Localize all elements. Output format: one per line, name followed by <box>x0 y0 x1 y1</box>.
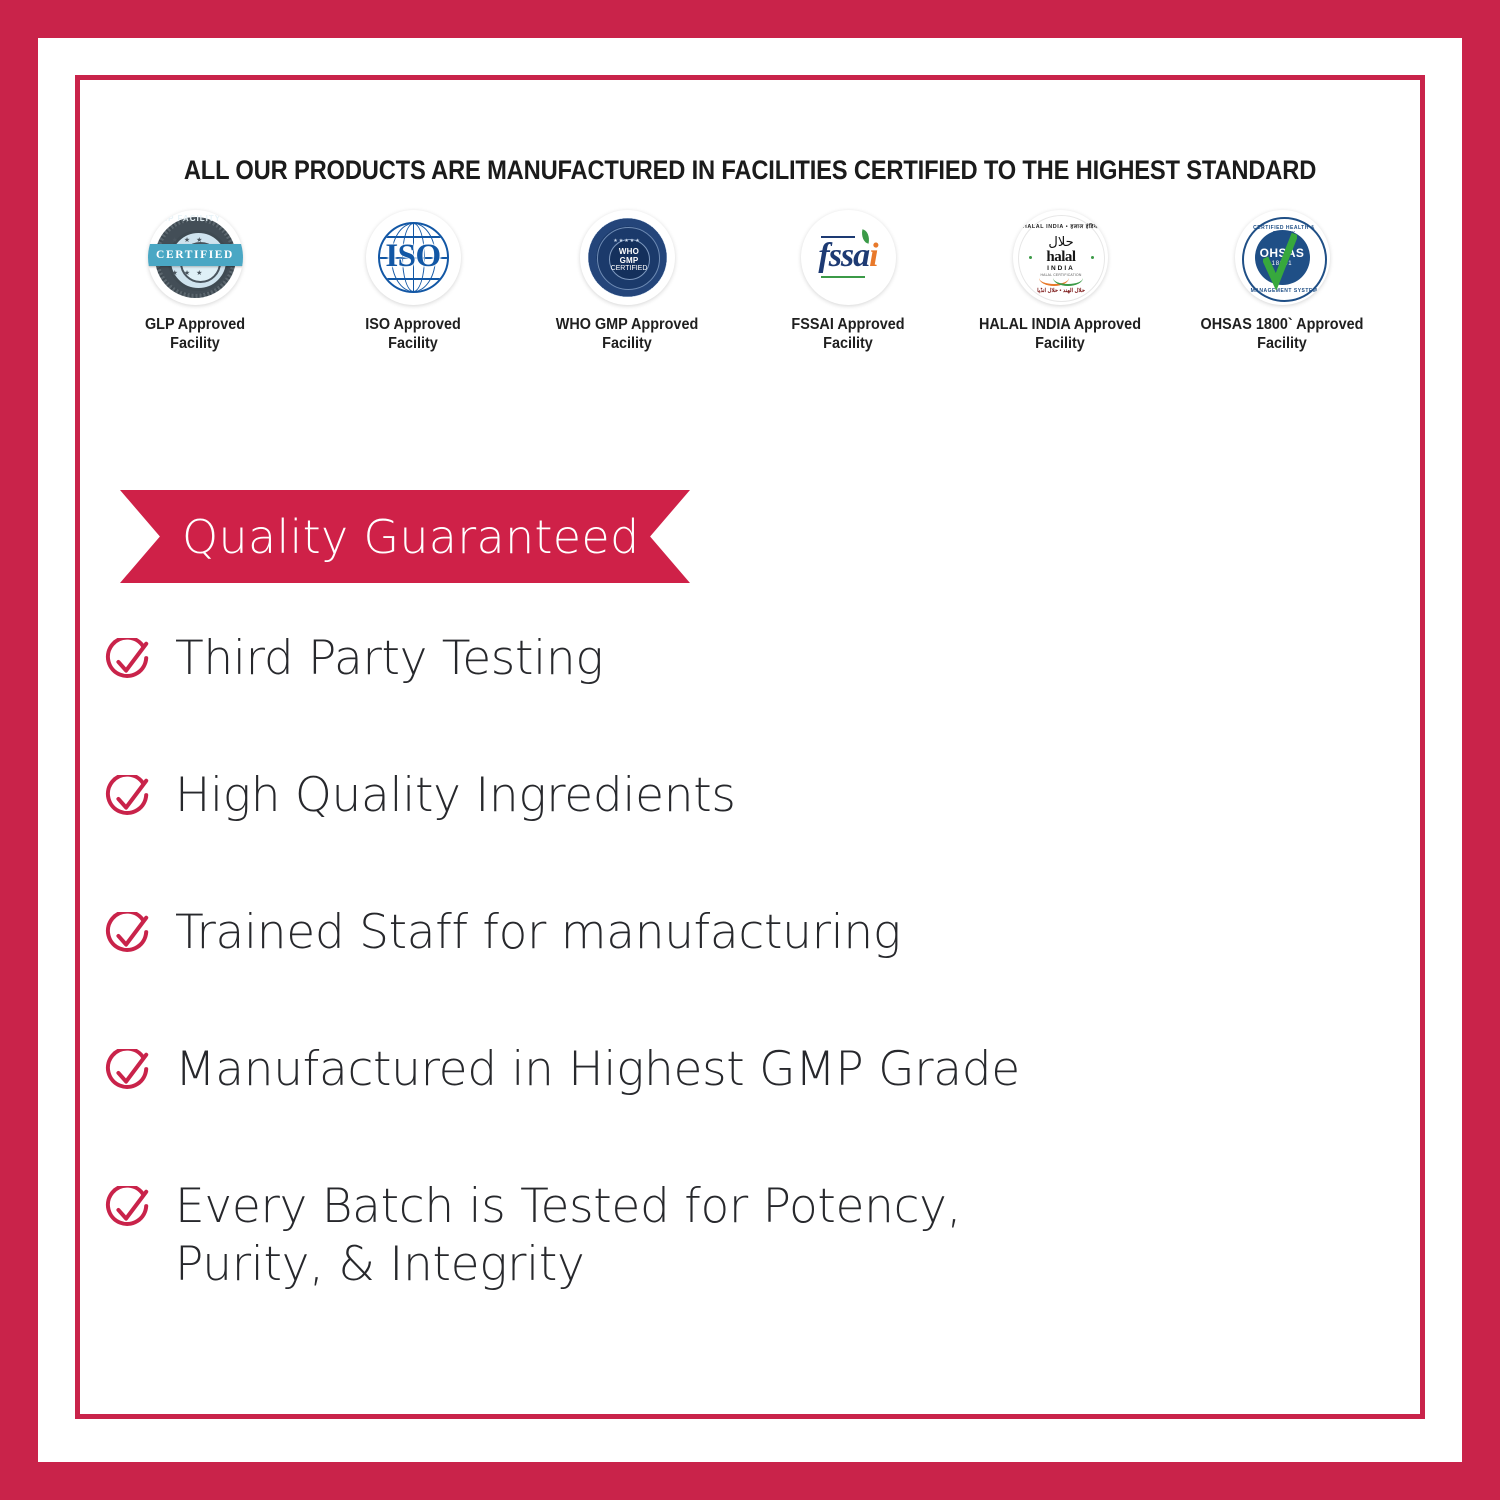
glp-stars-top: ★ ★ ★ <box>148 236 229 244</box>
ribbon-label: Quality Guaranteed <box>182 510 639 564</box>
glp-certified-seal-icon: GLP FACILITY ★ ★ ★ ★ ★ ★ CERTIFIED <box>148 210 243 305</box>
fssai-wordmark: fssa <box>818 237 869 274</box>
list-item: Manufactured in Highest GMP Grade <box>105 1041 1020 1099</box>
iso-globe-icon: ISO <box>366 210 461 305</box>
ohsas-seal-icon: OHSAS 18001 CERTIFIED HEALTH & SAFETY MA… <box>1235 210 1330 305</box>
list-item-label: Trained Staff for manufacturing <box>175 904 901 962</box>
list-item: Trained Staff for manufacturing <box>105 904 901 962</box>
list-item-label: Every Batch is Tested for Potency, Purit… <box>175 1178 961 1294</box>
ohsas-green-check-icon <box>1263 232 1297 290</box>
list-item-label: High Quality Ingredients <box>175 767 736 825</box>
list-item-label: Manufactured in Highest GMP Grade <box>175 1041 1020 1099</box>
certification-caption: WHO GMP Approved Facility <box>534 315 720 353</box>
crimson-outer-frame: ALL OUR PRODUCTS ARE MANUFACTURED IN FAC… <box>0 0 1500 1500</box>
circle-check-icon <box>105 1186 151 1232</box>
certification-item-fssai: fssai FSSAI Approved Facility <box>748 210 948 353</box>
quality-guaranteed-ribbon: Quality Guaranteed <box>120 490 690 583</box>
gmp-stars: ★★★★★ <box>588 238 667 244</box>
halal-arc-top: HALAL INDIA • हलाल इंडिया <box>1019 222 1104 230</box>
list-item-label: Third Party Testing <box>175 630 603 688</box>
certification-item-iso: ISO ISO Approved Facility <box>313 210 513 353</box>
glp-certified-band: CERTIFIED <box>148 244 243 266</box>
certification-item-who-gmp: WHO GMP CERTIFIED ★★★★★ WHO GMP Approved… <box>527 210 727 353</box>
certification-item-halal-india: HALAL INDIA • हलाल इंडिया حلال halal IND… <box>960 210 1160 353</box>
halal-arabic: حلال <box>1019 236 1104 249</box>
certification-caption: GLP Approved Facility <box>102 315 288 353</box>
list-item: Every Batch is Tested for Potency, Purit… <box>105 1178 961 1294</box>
glp-stars-bottom: ★ ★ ★ <box>148 269 229 277</box>
certification-item-glp: GLP FACILITY ★ ★ ★ ★ ★ ★ CERTIFIED GLP A… <box>95 210 295 353</box>
certification-caption: FSSAI Approved Facility <box>755 315 941 353</box>
glp-arc-text: GLP FACILITY <box>148 214 229 223</box>
certification-caption: HALAL INDIA Approved Facility <box>967 315 1153 353</box>
fssai-wordmark-accent: i <box>869 237 877 274</box>
circle-check-icon <box>105 1049 151 1095</box>
circle-check-icon <box>105 912 151 958</box>
circle-check-icon <box>105 638 151 684</box>
certification-caption: ISO Approved Facility <box>320 315 506 353</box>
page-title: ALL OUR PRODUCTS ARE MANUFACTURED IN FAC… <box>146 155 1354 186</box>
certification-badge-row: GLP FACILITY ★ ★ ★ ★ ★ ★ CERTIFIED GLP A… <box>75 210 1425 390</box>
certification-item-ohsas: OHSAS 18001 CERTIFIED HEALTH & SAFETY MA… <box>1182 210 1382 353</box>
certification-caption: OHSAS 1800` Approved Facility <box>1189 315 1375 353</box>
fssai-logo-icon: fssai <box>801 210 896 305</box>
gmp-core-line1: WHO GMP <box>610 247 649 265</box>
glp-band-text: CERTIFIED <box>156 249 234 261</box>
halal-arc-bottom: حلال الهند • حلال انڈیا <box>1019 288 1104 294</box>
gmp-core-line2: CERTIFIED <box>611 265 648 273</box>
iso-wordmark: ISO <box>366 236 461 276</box>
list-item: Third Party Testing <box>105 630 603 688</box>
list-item: High Quality Ingredients <box>105 767 736 825</box>
content-stage: ALL OUR PRODUCTS ARE MANUFACTURED IN FAC… <box>75 75 1425 1419</box>
who-gmp-seal-icon: WHO GMP CERTIFIED ★★★★★ <box>580 210 675 305</box>
halal-india-seal-icon: HALAL INDIA • हलाल इंडिया حلال halal IND… <box>1013 210 1108 305</box>
circle-check-icon <box>105 775 151 821</box>
